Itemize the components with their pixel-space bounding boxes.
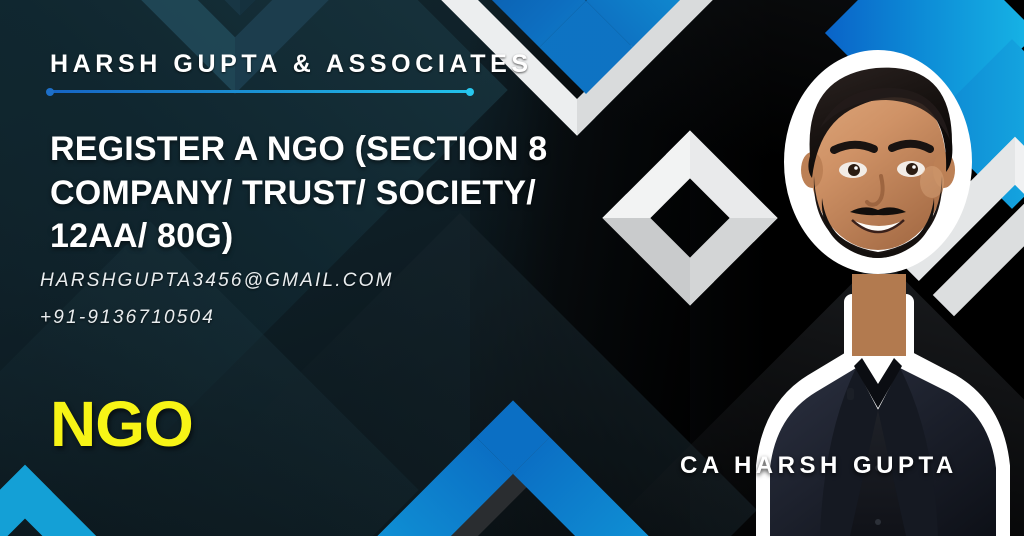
contact-email[interactable]: HARSHGUPTA3456@GMAIL.COM <box>40 262 510 299</box>
contact-phone[interactable]: +91-9136710504 <box>40 299 510 336</box>
promo-banner: HARSH GUPTA & ASSOCIATES REGISTER A NGO … <box>0 0 1024 536</box>
avatar-cheek-highlight <box>920 166 944 198</box>
brand-block: HARSH GUPTA & ASSOCIATES <box>50 52 520 93</box>
avatar-neck <box>852 274 906 356</box>
contact-block: HARSHGUPTA3456@GMAIL.COM +91-9136710504 <box>40 262 510 336</box>
page-title: REGISTER A NGO (SECTION 8 COMPANY/ TRUST… <box>50 128 580 259</box>
ngo-badge: NGO <box>50 392 193 456</box>
brand-name: HARSH GUPTA & ASSOCIATES <box>50 52 520 77</box>
brand-underline <box>50 90 470 93</box>
avatar-lapel-mic <box>847 388 854 400</box>
avatar-eye-left <box>839 162 867 178</box>
avatar-eye-right <box>897 161 925 177</box>
presenter-name: CA HARSH GUPTA <box>680 452 958 480</box>
avatar-shirt-button <box>875 519 881 525</box>
